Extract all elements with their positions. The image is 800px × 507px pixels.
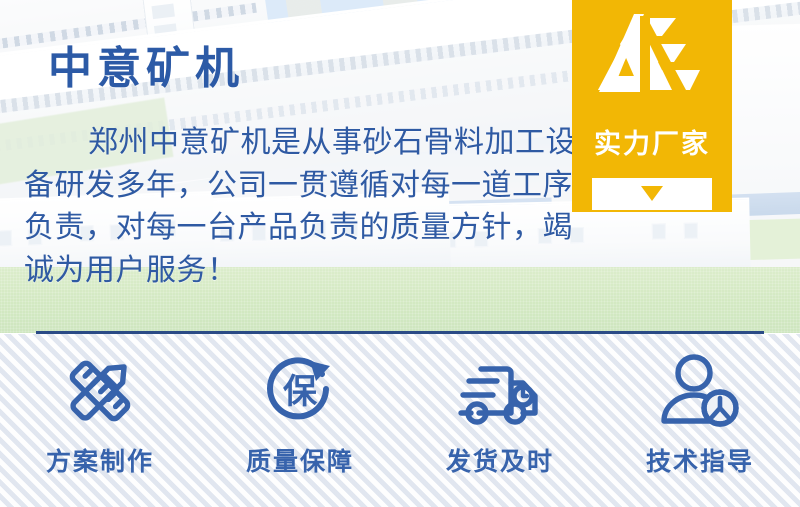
svg-text:保: 保	[283, 373, 318, 411]
guarantee-refresh-icon: 保	[260, 350, 340, 432]
badge-label: 实力厂家	[572, 122, 732, 161]
feature-item-support[interactable]: 技术指导	[600, 334, 800, 478]
feature-item-quality[interactable]: 保 质量保障	[200, 334, 400, 478]
feature-item-delivery[interactable]: 发货及时	[400, 334, 600, 478]
badge-arrow-bar[interactable]	[592, 178, 712, 210]
triangle-down-icon	[641, 186, 663, 201]
strength-manufacturer-badge[interactable]: 实力厂家	[572, 0, 732, 212]
features-section: 方案制作 保 质量保障	[0, 334, 800, 507]
feature-label: 技术指导	[646, 442, 754, 478]
feature-label: 方案制作	[46, 442, 154, 478]
page-title: 中意矿机	[48, 47, 244, 91]
promo-banner: 中意矿机 郑州中意矿机是从事砂石骨料加工设备研发多年，公司一贯遵循对每一道工序负…	[0, 0, 800, 507]
hero-description: 郑州中意矿机是从事砂石骨料加工设备研发多年，公司一贯遵循对每一道工序负责，对每一…	[24, 122, 584, 292]
triangle-e-logo-icon	[594, 14, 712, 94]
section-divider	[36, 331, 764, 334]
delivery-truck-clock-icon	[457, 350, 543, 432]
feature-item-plan[interactable]: 方案制作	[0, 334, 200, 478]
support-person-tool-icon	[658, 350, 742, 432]
feature-label: 质量保障	[246, 442, 354, 478]
pencil-ruler-icon	[60, 350, 140, 432]
feature-label: 发货及时	[446, 442, 554, 478]
